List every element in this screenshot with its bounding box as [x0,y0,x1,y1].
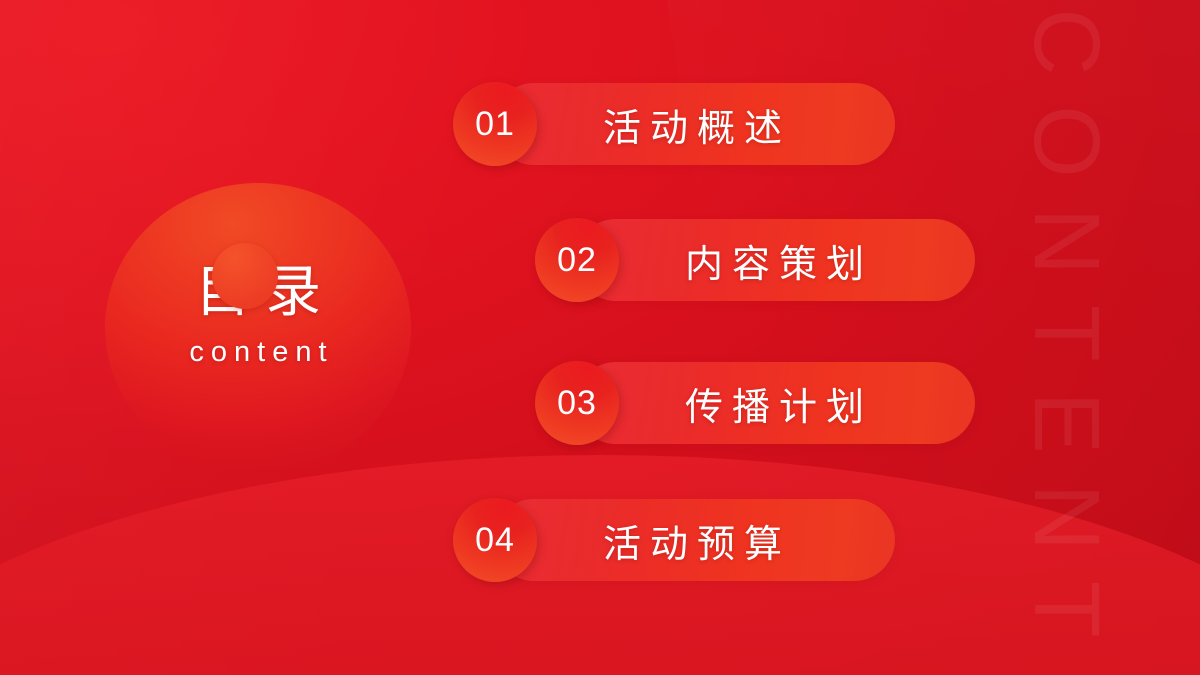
toc-item-03[interactable]: 03 传播计划 [535,362,975,444]
toc-number-label: 02 [557,243,597,277]
toc-item-01[interactable]: 01 活动概述 [453,83,895,165]
toc-item-list: 01 活动概述 02 内容策划 03 传播计划 [0,0,1200,675]
toc-number-badge: 02 [535,218,619,302]
toc-number-label: 04 [475,523,515,557]
toc-item-label: 活动预算 [603,499,791,581]
toc-item-label: 内容策划 [685,219,873,301]
toc-number-badge: 03 [535,361,619,445]
toc-item-02[interactable]: 02 内容策划 [535,219,975,301]
toc-item-label: 传播计划 [685,362,873,444]
toc-number-label: 01 [475,107,515,141]
toc-number-badge: 04 [453,498,537,582]
toc-item-04[interactable]: 04 活动预算 [453,499,895,581]
toc-item-label: 活动概述 [603,83,791,165]
toc-number-badge: 01 [453,82,537,166]
toc-number-label: 03 [557,386,597,420]
slide-canvas: CONTENT 目录 content 01 活动概述 02 内容策划 [0,0,1200,675]
